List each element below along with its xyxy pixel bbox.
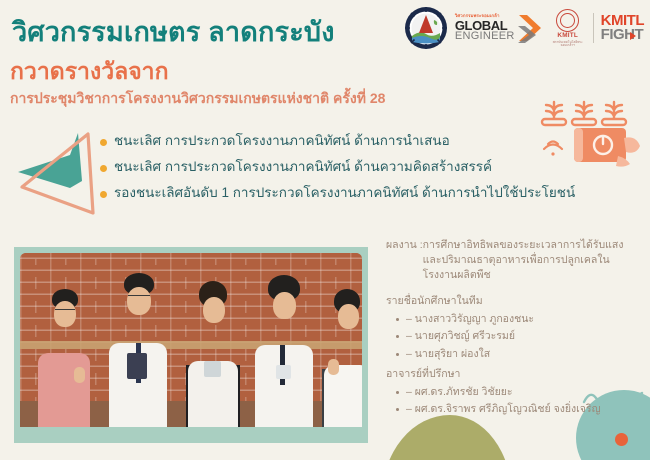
chevron-right-icon [517,13,543,43]
students-heading: รายชื่อนักศึกษาในทีม [386,294,644,309]
award-text: รองชนะเลิศอันดับ 1 การประกวดโครงงานภาคนิ… [114,185,575,202]
glasses-icon [128,295,150,299]
olive-hill-blob [382,415,512,460]
play-triangle-icon [630,32,636,40]
bullet-dot-icon [100,139,107,146]
list-item: – นางสาววิรัญญา ภูกองชนะ [406,311,644,328]
work-title-block: ผลงาน : การศึกษาอิทธิพลของระยะเวลาการได้… [386,238,644,284]
details-column: ผลงาน : การศึกษาอิทธิพลของระยะเวลาการได้… [386,238,644,419]
person-student-1 [106,261,172,427]
advisors-list: – ผศ.ดร.ภัทรชัย วิชัยยะ – ผศ.ดร.จิราพร ศ… [386,384,644,419]
person-advisor-right [320,277,362,427]
glasses-icon [55,309,75,313]
list-item: – นายศุภวิชญ์ ศรีวะรมย์ [406,328,644,345]
thumbs-up [74,367,85,383]
awards-list: ชนะเลิศ การประกวดโครงงานภาคนิทัศน์ ด้านก… [100,133,560,211]
work-label: ผลงาน : [386,238,423,284]
list-item: – ผศ.ดร.จิราพร ศรีภิญโญวณิชย์ จงยิ่งเจริ… [406,401,644,418]
team-photo-frame [14,247,368,443]
logo-strip: วิศวกรรมพระจอมเกล้า GLOBAL ENGINEER KMIT… [404,5,644,51]
kmitl-seal-logo: KMITL สถาบันเทคโนโลยีพระจอมเกล้าฯ [550,9,586,47]
bullet-dot-icon [100,191,107,198]
head [127,287,151,315]
kmitl-fight-logo: KMITL FIGHT [601,14,644,42]
kmitl-fight-line2: FIGHT [601,28,644,42]
head [273,292,296,319]
work-line-1: การศึกษาอิทธิพลของระยะเวลาการได้รับแสง [423,238,624,253]
arrow-decoration [8,125,113,220]
students-list: – นางสาววิรัญญา ภูกองชนะ – นายศุภวิชญ์ ศ… [386,311,644,363]
list-item: – นายสุริยา ผ่องใส [406,346,644,363]
kmitl-seal-icon [556,9,579,32]
orange-dot-decoration [615,433,628,446]
agricultural-engineering-emblem-logo [404,6,448,50]
head [54,301,76,327]
shirt [38,353,90,427]
global-engineer-line2: ENGINEER [455,31,515,42]
page-subtitle: กวาดรางวัลจาก [10,54,169,90]
page-subtitle-secondary: การประชุมวิชาการโครงงานวิศวกรรมเกษตรแห่ง… [10,88,385,110]
page-title: วิศวกรรมเกษตร ลาดกระบัง [12,10,335,53]
list-item: – ผศ.ดร.ภัทรชัย วิชัยยะ [406,384,644,401]
person-student-3 [252,265,318,427]
team-photo [20,253,362,427]
logo-divider [593,13,594,43]
head [338,304,359,329]
kmitl-seal-sublabel: สถาบันเทคโนโลยีพระจอมเกล้าฯ [550,41,586,47]
bullet-dot-icon [100,165,107,172]
trophy [204,361,221,377]
award-item: รองชนะเลิศอันดับ 1 การประกวดโครงงานภาคนิ… [100,185,560,202]
person-advisor-left [34,277,96,427]
trophy [127,353,147,379]
work-body: การศึกษาอิทธิพลของระยะเวลาการได้รับแสง แ… [423,238,624,284]
thumbs-up [328,359,339,375]
trophy [276,365,291,379]
award-item: ชนะเลิศ การประกวดโครงงานภาคนิทัศน์ ด้านก… [100,133,560,150]
work-line-2: และปริมาณธาตุอาหารเพื่อการปลูกเคลใน [423,253,624,268]
head [203,297,225,323]
kmitl-seal-label: KMITL [550,33,586,39]
advisors-heading: อาจารย์ที่ปรึกษา [386,367,644,382]
award-item: ชนะเลิศ การประกวดโครงงานภาคนิทัศน์ ด้านค… [100,159,560,176]
work-line-3: โรงงานผลิตพืช [423,268,624,283]
award-text: ชนะเลิศ การประกวดโครงงานภาคนิทัศน์ ด้านค… [114,159,492,176]
poster-canvas: วิศวกรรมเกษตร ลาดกระบัง กวาดรางวัลจาก กา… [0,0,650,460]
global-engineer-logo: วิศวกรรมพระจอมเกล้า GLOBAL ENGINEER [455,13,543,43]
kmitl-fight-line2-text: FIGHT [601,26,644,43]
award-text: ชนะเลิศ การประกวดโครงงานภาคนิทัศน์ ด้านก… [114,133,450,150]
person-student-2 [182,271,244,427]
